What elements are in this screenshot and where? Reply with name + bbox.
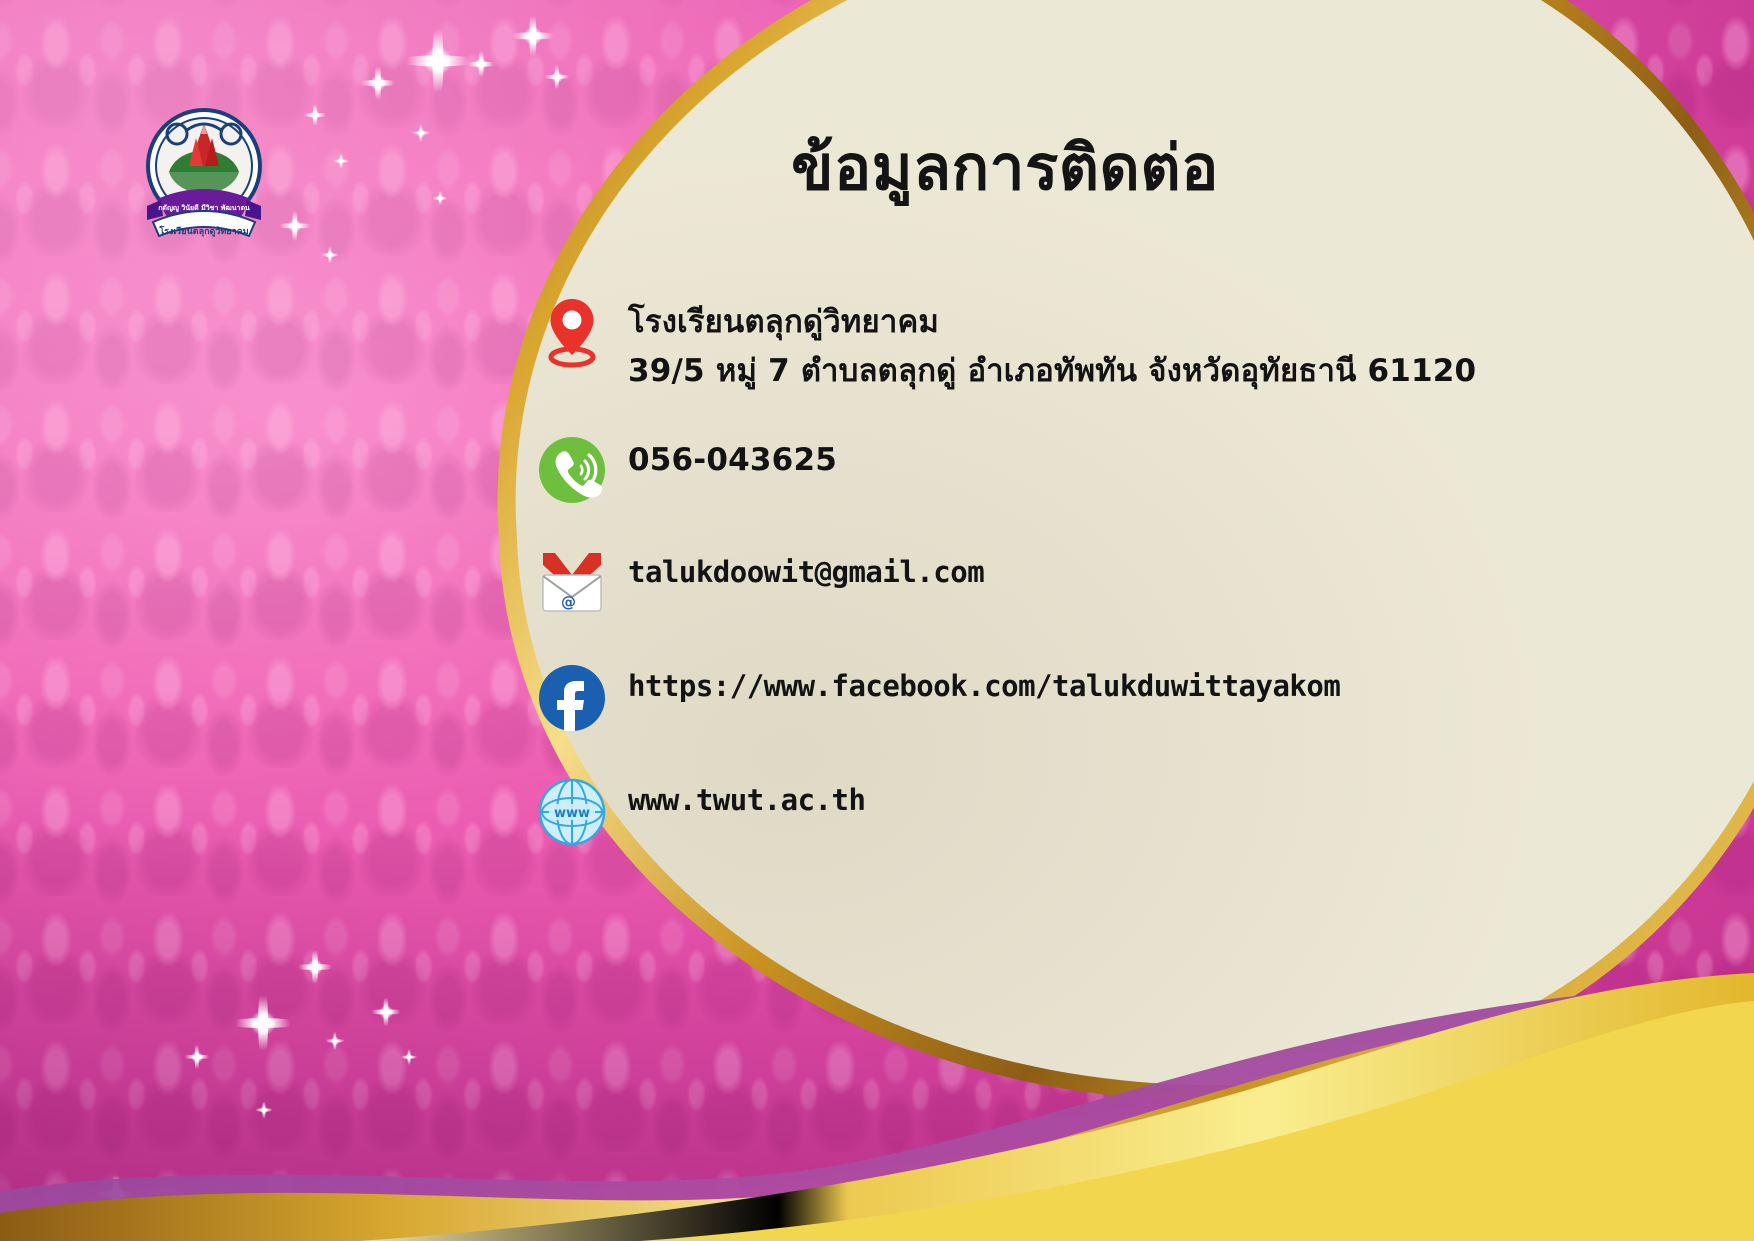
contact-row-address: โรงเรียนตลุกดู่วิทยาคม 39/5 หมู่ 7 ตำบลต… — [516, 292, 1696, 396]
globe-www-icon: www — [516, 772, 628, 852]
contact-info-card: กตัญญู วินัยดี มีวิชา พัฒนาตน โรงเรียนตล… — [0, 0, 1754, 1241]
contact-row-email: @ talukdoowit@gmail.com — [516, 544, 1696, 624]
phone-number: 056-043625 — [628, 430, 1696, 485]
gmail-icon: @ — [516, 544, 628, 624]
contact-list: โรงเรียนตลุกดู่วิทยาคม 39/5 หมู่ 7 ตำบลต… — [516, 292, 1696, 886]
contact-row-phone: 056-043625 — [516, 430, 1696, 510]
svg-text:@: @ — [561, 593, 576, 611]
location-pin-icon — [516, 292, 628, 372]
address-line-2: 39/5 หมู่ 7 ตำบลตลุกดู่ อำเภอทัพทัน จังห… — [628, 347, 1696, 396]
phone-icon — [516, 430, 628, 510]
facebook-url[interactable]: https://www.facebook.com/talukduwittayak… — [628, 658, 1696, 710]
address-text: โรงเรียนตลุกดู่วิทยาคม 39/5 หมู่ 7 ตำบลต… — [628, 292, 1696, 396]
contact-row-website: www www.twut.ac.th — [516, 772, 1696, 852]
address-line-1: โรงเรียนตลุกดู่วิทยาคม — [628, 304, 939, 340]
page-title: ข้อมูลการติดต่อ — [620, 132, 1390, 203]
school-crest-logo: กตัญญู วินัยดี มีวิชา พัฒนาตน โรงเรียนตล… — [139, 104, 269, 252]
contact-row-facebook: https://www.facebook.com/talukduwittayak… — [516, 658, 1696, 738]
svg-text:โรงเรียนตลุกดู่วิทยาคม: โรงเรียนตลุกดู่วิทยาคม — [158, 225, 248, 237]
email-address[interactable]: talukdoowit@gmail.com — [628, 544, 1696, 596]
facebook-icon — [516, 658, 628, 738]
website-url[interactable]: www.twut.ac.th — [628, 772, 1696, 824]
svg-text:www: www — [554, 806, 590, 821]
